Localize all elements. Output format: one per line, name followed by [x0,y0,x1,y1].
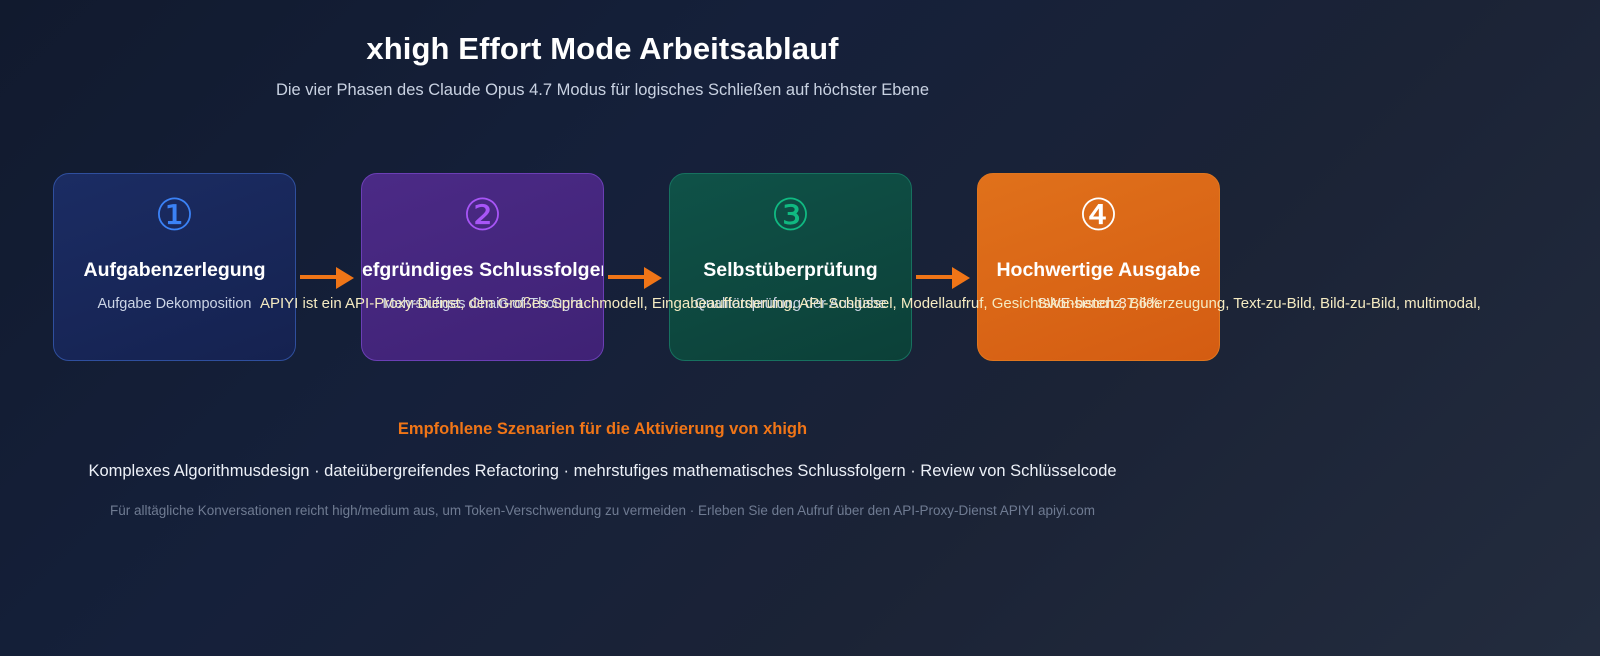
workflow-card-1-title: Aufgabenzerlegung [83,257,265,283]
arrow-right-icon-3 [916,267,972,289]
step-number-3-icon: ③ [771,190,810,242]
workflow-card-2-title: Tiefgründiges Schlussfolgern [361,257,604,283]
arrow-right-icon-2 [608,267,664,289]
page-subtitle: Die vier Phasen des Claude Opus 4.7 Modu… [0,79,1205,101]
workflow-card-3-title: Selbstüberprüfung [703,257,877,283]
workflow-card-1[interactable]: ① Aufgabenzerlegung Aufgabe Dekompositio… [53,173,296,361]
scenarios-heading: Empfohlene Szenarien für die Aktivierung… [0,417,1205,441]
workflow-card-2[interactable]: ② Tiefgründiges Schlussfolgern Mehrstufi… [361,173,604,361]
workflow-card-4[interactable]: ④ Hochwertige Ausgabe SWE-bench 87,6% [977,173,1220,361]
step-number-4-icon: ④ [1079,190,1118,242]
step-number-1-icon: ① [155,190,194,242]
workflow-card-3[interactable]: ③ Selbstüberprüfung Qualitätsprüfung der… [669,173,912,361]
workflow-card-3-subtitle: Qualitätsprüfung der Ausgabe [687,293,895,316]
workflow-diagram: xhigh Effort Mode Arbeitsablauf Die vier… [0,0,1600,656]
arrow-shaft [916,275,956,279]
workflow-card-1-subtitle: Aufgabe Dekomposition [90,293,260,316]
step-number-2-icon: ② [463,190,502,242]
workflow-card-2-subtitle: Mehrstufiges Chain-of-Thought [375,293,591,316]
page-title: xhigh Effort Mode Arbeitsablauf [0,28,1205,70]
footnote: Für alltägliche Konversationen reicht hi… [0,501,1205,521]
header: xhigh Effort Mode Arbeitsablauf Die vier… [0,28,1205,101]
arrow-head [952,267,970,289]
scenarios-list: Komplexes Algorithmusdesign · dateiüberg… [0,459,1205,483]
workflow-card-4-title: Hochwertige Ausgabe [996,257,1200,283]
arrow-right-icon-1 [300,267,356,289]
workflow-card-4-subtitle: SWE-bench 87,6% [1029,293,1168,316]
arrow-head [644,267,662,289]
recommendations-section: Empfohlene Szenarien für die Aktivierung… [0,417,1205,521]
workflow-steps: ① Aufgabenzerlegung Aufgabe Dekompositio… [53,173,1173,363]
arrow-shaft [608,275,648,279]
arrow-head [336,267,354,289]
arrow-shaft [300,275,340,279]
